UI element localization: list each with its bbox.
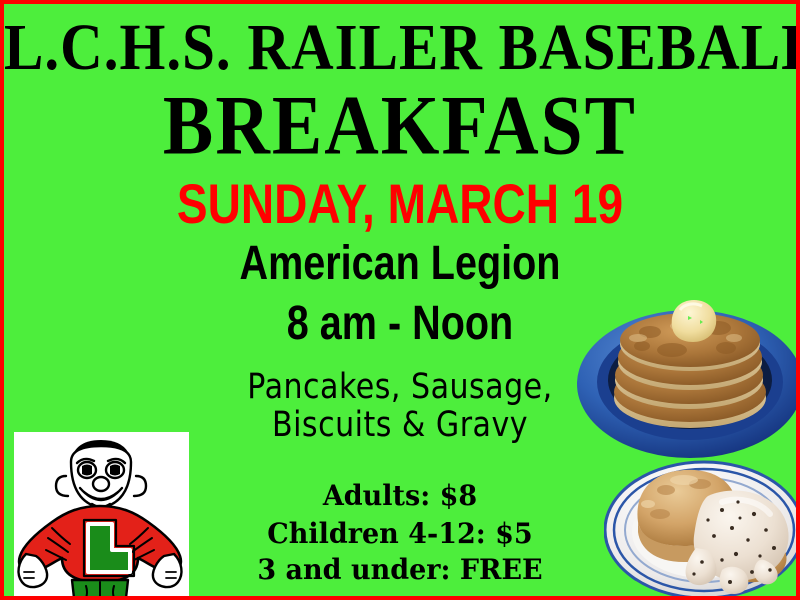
- event-poster: L.C.H.S. RAILER BASEBALL BREAKFAST SUNDA…: [0, 0, 800, 600]
- pancake-illustration: [576, 280, 800, 460]
- biscuits-and-gravy-photo: [604, 444, 800, 600]
- poster-headline-event: BREAKFAST: [0, 84, 800, 168]
- pancake-stack-photo: [576, 280, 800, 460]
- poster-headline-organization: L.C.H.S. RAILER BASEBALL: [4, 14, 796, 80]
- mascot-illustration: [14, 432, 189, 598]
- poster-date: SUNDAY, MARCH 19: [12, 176, 788, 231]
- railer-mascot-logo: [14, 432, 189, 598]
- biscuits-illustration: [604, 444, 800, 600]
